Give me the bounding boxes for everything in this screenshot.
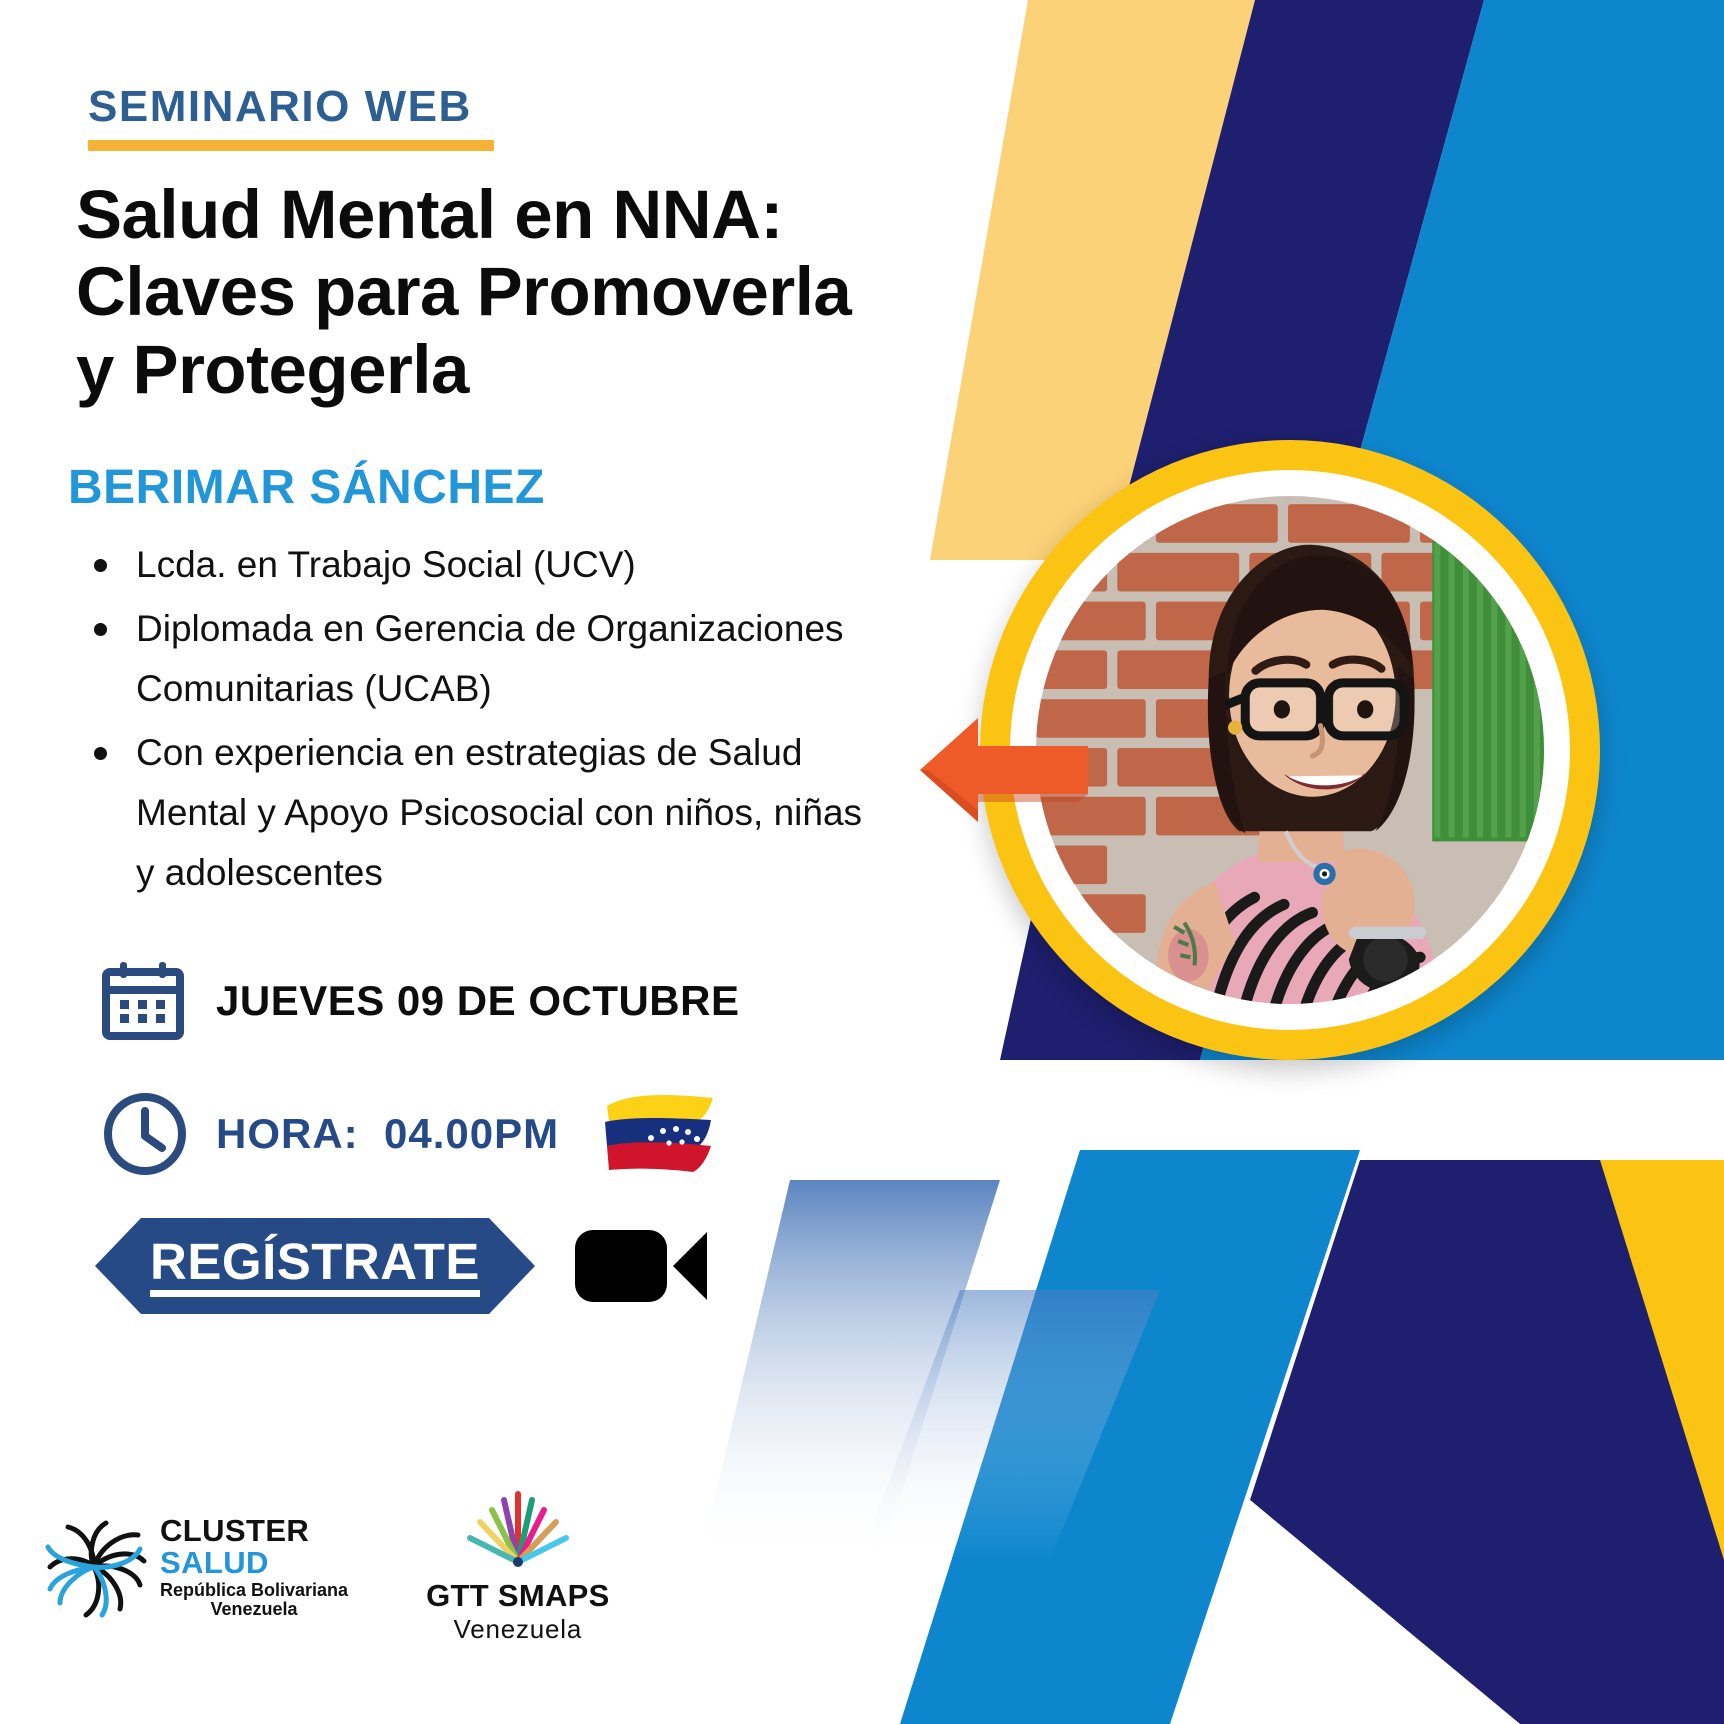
list-item: Con experiencia en estrategias de Salud …: [78, 723, 878, 903]
portrait-photo: [1036, 496, 1544, 1004]
registration-row: REGÍSTRATE: [95, 1218, 709, 1314]
cluster-salud-logo: CLUSTER SALUD República Bolivariana Vene…: [40, 1513, 348, 1621]
speaker-portrait: [980, 440, 1600, 1060]
cluster-line-1: CLUSTER: [160, 1515, 348, 1547]
cluster-line-4: Venezuela: [160, 1600, 348, 1618]
speaker-credentials-list: Lcda. en Trabajo Social (UCV) Diplomada …: [78, 535, 878, 907]
gtt-burst-icon: [452, 1488, 584, 1574]
kicker-label: SEMINARIO WEB: [88, 82, 472, 132]
cluster-line-2: SALUD: [160, 1547, 348, 1579]
list-item: Lcda. en Trabajo Social (UCV): [78, 535, 878, 595]
portrait-illustration: [1036, 496, 1544, 1004]
venezuela-flag-icon: [601, 1088, 721, 1180]
event-date-label: JUEVES 09 DE OCTUBRE: [216, 977, 739, 1025]
video-camera-icon[interactable]: [573, 1222, 709, 1310]
cluster-spiral-icon: [40, 1513, 148, 1621]
footer-logos: CLUSTER SALUD República Bolivariana Vene…: [40, 1488, 610, 1645]
speaker-name: BERIMAR SÁNCHEZ: [68, 460, 545, 515]
page-title: Salud Mental en NNA: Claves para Promove…: [76, 176, 906, 408]
gtt-line-1: GTT SMAPS: [426, 1578, 610, 1614]
event-date-row: JUEVES 09 DE OCTUBRE: [100, 960, 739, 1042]
poster-content: SEMINARIO WEB Salud Mental en NNA: Clave…: [0, 0, 960, 1724]
gtt-smaps-logo: GTT SMAPS Venezuela: [426, 1488, 610, 1645]
register-button[interactable]: REGÍSTRATE: [95, 1218, 535, 1314]
event-time-row: HORA: 04.00PM: [102, 1088, 721, 1180]
clock-icon: [102, 1091, 188, 1177]
calendar-icon: [100, 960, 186, 1042]
cluster-salud-wordmark: CLUSTER SALUD República Bolivariana Vene…: [160, 1515, 348, 1618]
event-time-label: HORA: 04.00PM: [216, 1110, 559, 1158]
gtt-line-2: Venezuela: [454, 1614, 583, 1645]
cluster-line-3: República Bolivariana: [160, 1581, 348, 1599]
list-item: Diplomada en Gerencia de Organizaciones …: [78, 599, 878, 719]
register-button-label: REGÍSTRATE: [150, 1236, 480, 1297]
kicker-underline: [88, 140, 494, 151]
poster-canvas: SEMINARIO WEB Salud Mental en NNA: Clave…: [0, 0, 1724, 1724]
